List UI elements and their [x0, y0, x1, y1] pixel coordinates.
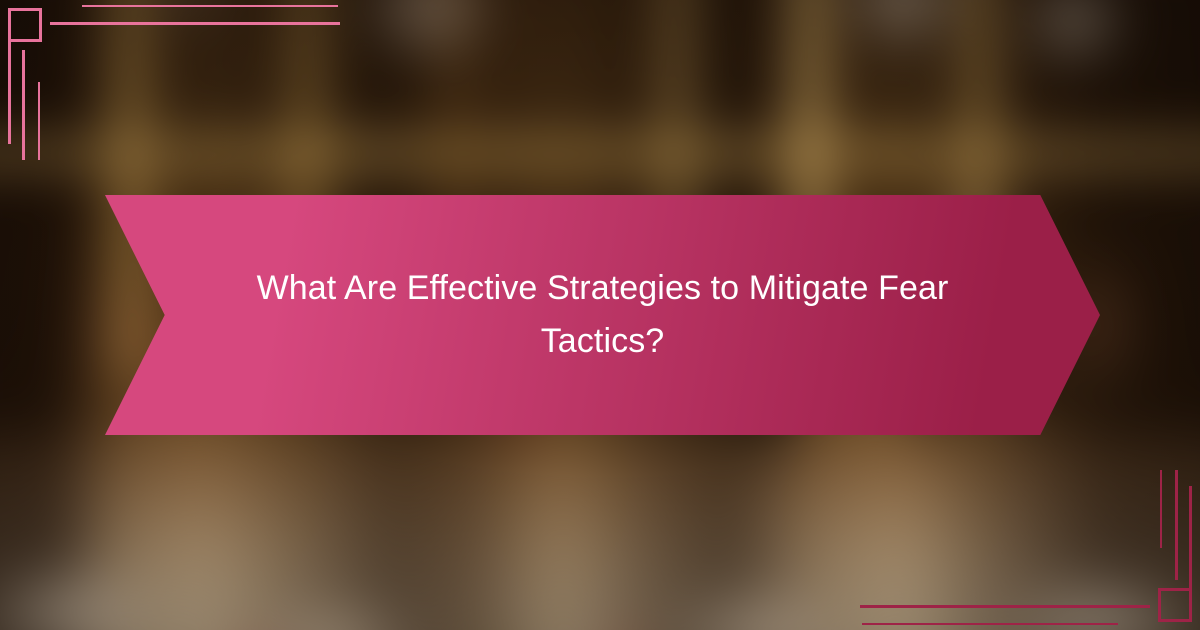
- corner-inner-horizontal-line: [860, 605, 1150, 608]
- corner-square-icon: [1158, 588, 1192, 622]
- banner-canvas: What Are Effective Strategies to Mitigat…: [0, 0, 1200, 630]
- top-left-corner-ornament: [0, 0, 150, 150]
- corner-inner-vertical-line: [1175, 470, 1178, 580]
- corner-outer-vertical-line: [1160, 470, 1162, 548]
- bottom-right-corner-ornament: [1050, 480, 1200, 630]
- corner-inner-horizontal-line: [50, 22, 340, 25]
- corner-square-icon: [8, 8, 42, 42]
- corner-edge-vertical-line: [1189, 486, 1192, 622]
- corner-outer-horizontal-line: [82, 5, 338, 7]
- corner-inner-vertical-line: [22, 50, 25, 160]
- corner-edge-vertical-line: [8, 8, 11, 144]
- corner-outer-vertical-line: [38, 82, 40, 160]
- corner-outer-horizontal-line: [862, 623, 1118, 625]
- page-title: What Are Effective Strategies to Mitigat…: [158, 262, 1048, 367]
- headline-banner: What Are Effective Strategies to Mitigat…: [105, 195, 1100, 435]
